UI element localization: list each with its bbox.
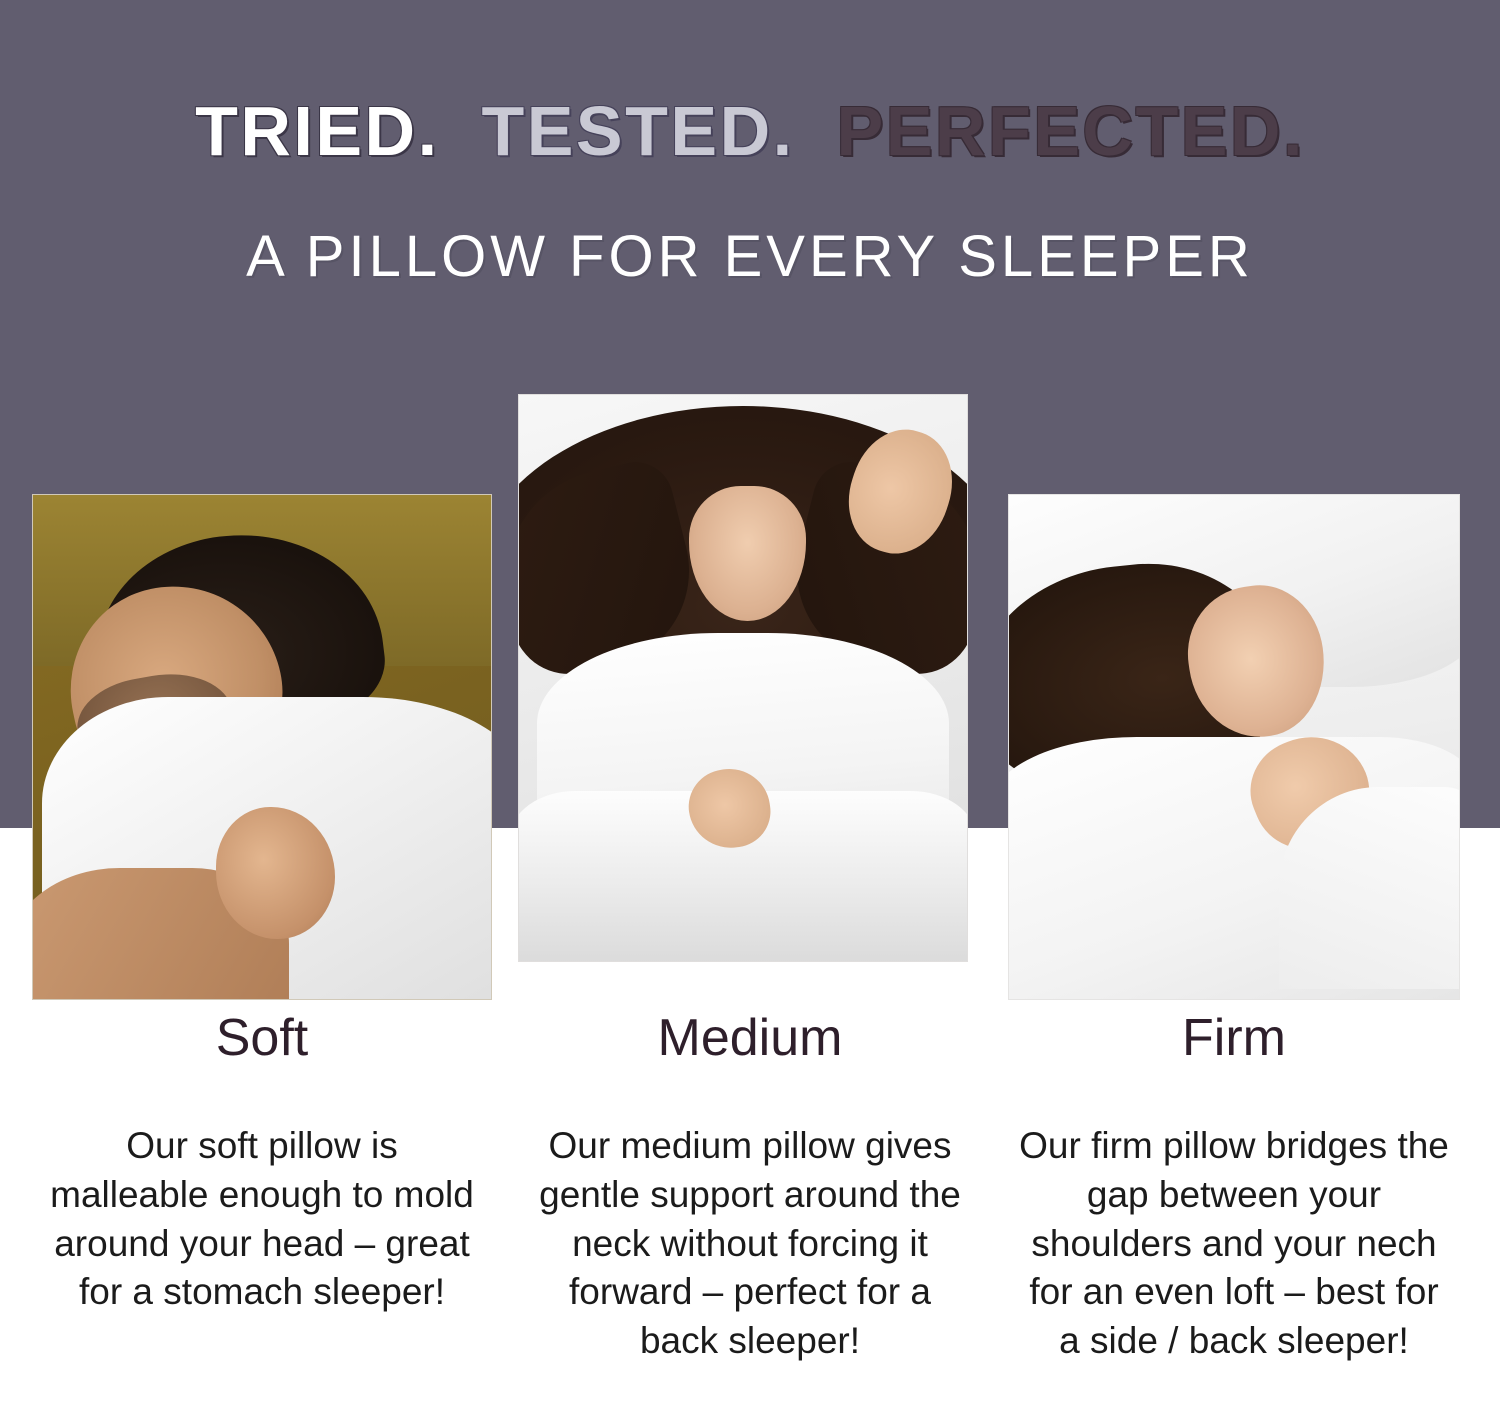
firm-photo-scene bbox=[1009, 495, 1459, 999]
column-soft: Soft Our soft pillow is malleable enough… bbox=[47, 1012, 477, 1317]
column-medium-body: Our medium pillow gives gentle support a… bbox=[535, 1122, 965, 1366]
headline-word-tested: TESTED. bbox=[481, 96, 794, 166]
column-firm-title: Firm bbox=[1019, 1012, 1449, 1064]
photo-firm-sleeper bbox=[1008, 494, 1460, 1000]
column-firm-body: Our firm pillow bridges the gap between … bbox=[1019, 1122, 1449, 1366]
photo-soft-sleeper bbox=[32, 494, 492, 1000]
column-medium: Medium Our medium pillow gives gentle su… bbox=[535, 1012, 965, 1366]
soft-photo-scene bbox=[33, 495, 491, 999]
column-soft-body: Our soft pillow is malleable enough to m… bbox=[47, 1122, 477, 1317]
headline-word-perfected: PERFECTED. bbox=[837, 96, 1305, 166]
column-soft-title: Soft bbox=[47, 1012, 477, 1064]
column-firm: Firm Our firm pillow bridges the gap bet… bbox=[1019, 1012, 1449, 1366]
page-subheadline: A PILLOW FOR EVERY SLEEPER bbox=[0, 228, 1500, 286]
photo-medium-sleeper bbox=[518, 394, 968, 962]
medium-photo-scene bbox=[519, 395, 967, 961]
page-headline: TRIED. TESTED. PERFECTED. bbox=[0, 96, 1500, 166]
firmness-columns: Soft Our soft pillow is malleable enough… bbox=[0, 1012, 1500, 1420]
column-medium-title: Medium bbox=[535, 1012, 965, 1064]
headline-word-tried: TRIED. bbox=[195, 96, 439, 166]
firm-photo-shoulder bbox=[1279, 787, 1460, 989]
